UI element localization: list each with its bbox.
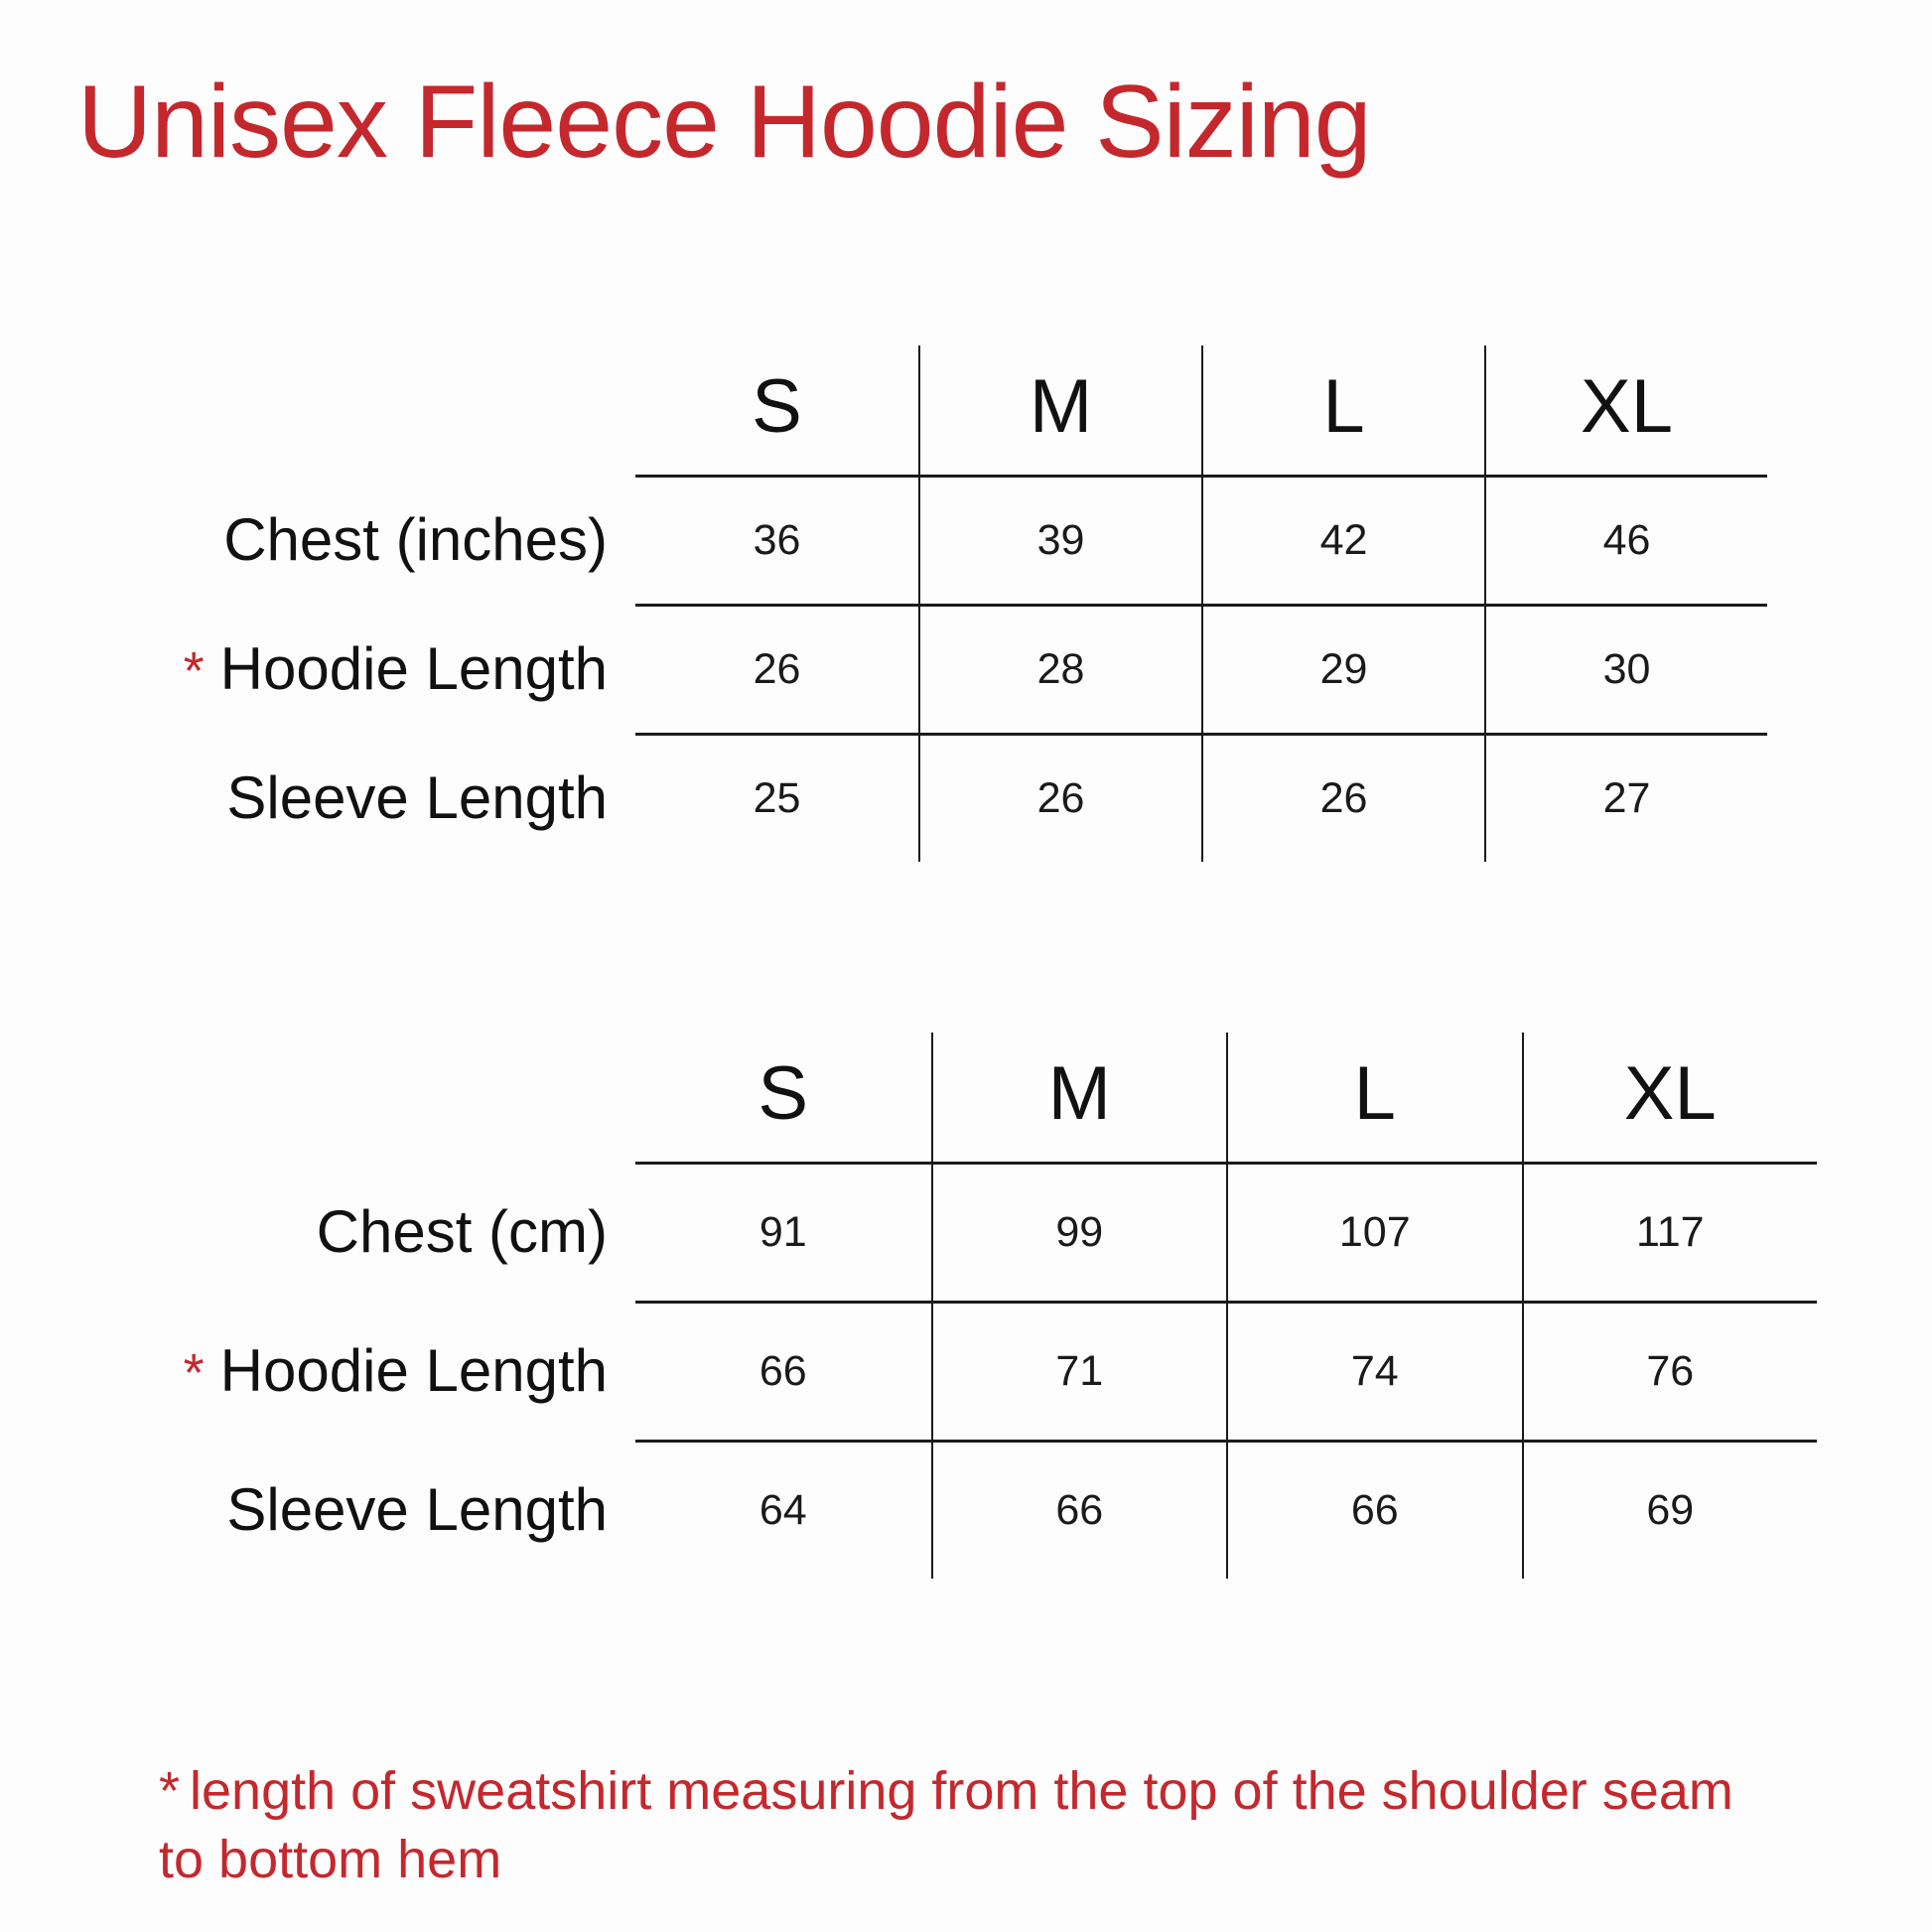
cell-xl-r0: 117 bbox=[1522, 1162, 1818, 1301]
page-title: Unisex Fleece Hoodie Sizing bbox=[77, 62, 1371, 184]
cell-l-r0: 42 bbox=[1201, 475, 1484, 604]
cell-s-r1: 26 bbox=[635, 604, 918, 733]
cell-s-r1: 66 bbox=[635, 1301, 931, 1440]
column-header-l: L bbox=[1226, 1033, 1522, 1162]
cell-s-r2: 25 bbox=[635, 733, 918, 862]
footnote-text: length of sweatshirt measuring from the … bbox=[159, 1761, 1733, 1889]
cell-xl-r2: 27 bbox=[1484, 733, 1767, 862]
cell-m-r0: 39 bbox=[918, 475, 1201, 604]
column-header-xl: XL bbox=[1522, 1033, 1818, 1162]
cell-xl-r2: 69 bbox=[1522, 1440, 1818, 1579]
row-label-text: Sleeve Length bbox=[226, 763, 608, 832]
footnote-asterisk: * bbox=[159, 1761, 180, 1821]
cell-l-r1: 29 bbox=[1201, 604, 1484, 733]
row-label-hoodie-length: *Hoodie Length bbox=[40, 604, 635, 733]
size-table-cm: SMLXL*Chest (cm)9199107117*Hoodie Length… bbox=[109, 1033, 1817, 1579]
row-label-text: Chest (cm) bbox=[317, 1197, 608, 1266]
row-asterisk: * bbox=[184, 644, 205, 698]
cell-l-r2: 66 bbox=[1226, 1440, 1522, 1579]
cell-m-r1: 28 bbox=[918, 604, 1201, 733]
row-label-text: Sleeve Length bbox=[226, 1475, 608, 1544]
column-header-s: S bbox=[635, 1033, 931, 1162]
cell-m-r2: 26 bbox=[918, 733, 1201, 862]
row-label-text: Hoodie Length bbox=[220, 634, 608, 703]
cell-s-r2: 64 bbox=[635, 1440, 931, 1579]
footnote: *length of sweatshirt measuring from the… bbox=[159, 1757, 1787, 1894]
cell-l-r2: 26 bbox=[1201, 733, 1484, 862]
cell-xl-r0: 46 bbox=[1484, 475, 1767, 604]
row-label-sleeve-length: *Sleeve Length bbox=[109, 1440, 635, 1579]
column-header-m: M bbox=[918, 345, 1201, 475]
cell-l-r0: 107 bbox=[1226, 1162, 1522, 1301]
row-asterisk: * bbox=[184, 1346, 205, 1400]
cell-l-r1: 74 bbox=[1226, 1301, 1522, 1440]
cell-xl-r1: 30 bbox=[1484, 604, 1767, 733]
cell-m-r0: 99 bbox=[931, 1162, 1227, 1301]
row-label-text: Chest (inches) bbox=[223, 505, 608, 574]
cell-s-r0: 36 bbox=[635, 475, 918, 604]
row-label-text: Hoodie Length bbox=[220, 1336, 608, 1405]
size-table-inches: SMLXL*Chest (inches)36394246*Hoodie Leng… bbox=[40, 345, 1767, 862]
table-header-corner bbox=[109, 1033, 635, 1162]
column-header-l: L bbox=[1201, 345, 1484, 475]
column-header-m: M bbox=[931, 1033, 1227, 1162]
row-label-chest-cm: *Chest (cm) bbox=[109, 1162, 635, 1301]
cell-m-r2: 66 bbox=[931, 1440, 1227, 1579]
sizing-chart-page: Unisex Fleece Hoodie Sizing SMLXL*Chest … bbox=[0, 0, 1932, 1932]
row-label-chest-inches: *Chest (inches) bbox=[40, 475, 635, 604]
cell-s-r0: 91 bbox=[635, 1162, 931, 1301]
cell-xl-r1: 76 bbox=[1522, 1301, 1818, 1440]
cell-m-r1: 71 bbox=[931, 1301, 1227, 1440]
row-label-hoodie-length: *Hoodie Length bbox=[109, 1301, 635, 1440]
row-label-sleeve-length: *Sleeve Length bbox=[40, 733, 635, 862]
column-header-s: S bbox=[635, 345, 918, 475]
table-header-corner bbox=[40, 345, 635, 475]
column-header-xl: XL bbox=[1484, 345, 1767, 475]
